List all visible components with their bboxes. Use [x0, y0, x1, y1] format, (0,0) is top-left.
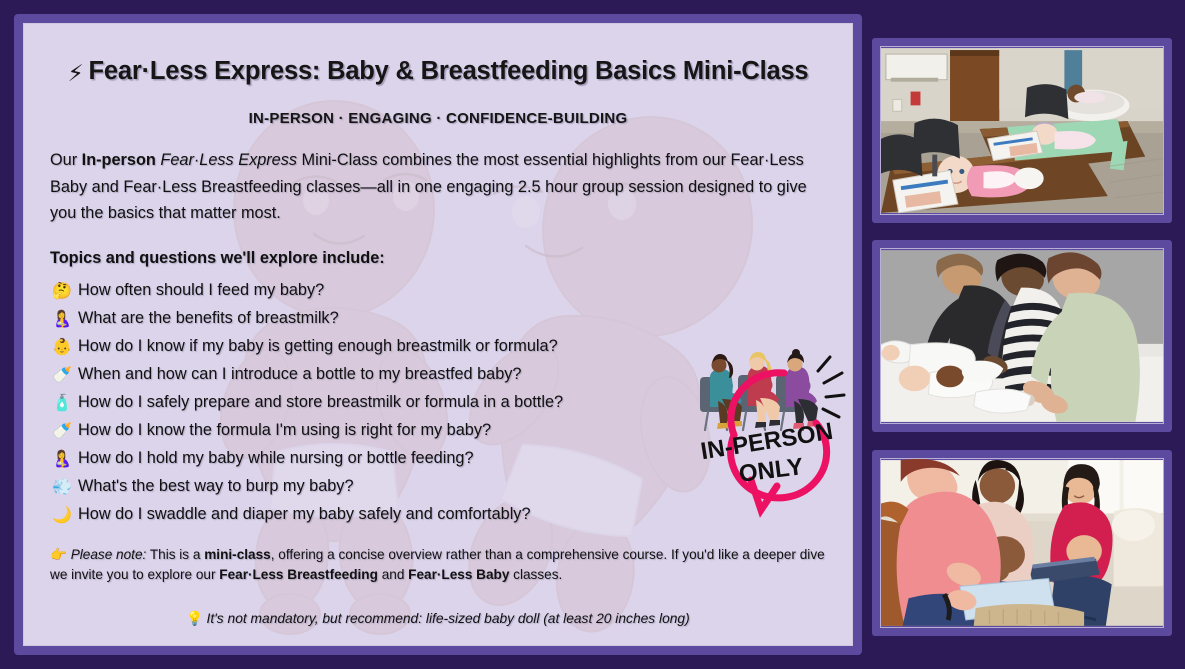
question-text: What's the best way to burp my baby?	[78, 477, 354, 496]
crescent-moon-icon: 🌙	[52, 505, 78, 524]
page-title: ⚡Fear·Less Express: Baby & Breastfeeding…	[46, 57, 830, 87]
page-title-text: Fear·Less Express: Baby & Breastfeeding …	[89, 57, 809, 85]
question-text: How do I know if my baby is getting enou…	[78, 337, 558, 356]
subtitle: IN-PERSON · ENGAGING · CONFIDENCE-BUILDI…	[46, 110, 830, 127]
card-content: ⚡Fear·Less Express: Baby & Breastfeeding…	[24, 24, 852, 645]
photo-column	[872, 18, 1172, 652]
recommendation-text: 💡It's not mandatory, but recommend: life…	[46, 611, 830, 627]
baby-icon: 👶	[52, 337, 78, 356]
in-person-only-badge: IN-PERSON ONLY	[696, 345, 846, 520]
please-note-text: 👉 Please note: This is a mini-class, off…	[50, 545, 826, 586]
poster-root: ⚡Fear·Less Express: Baby & Breastfeeding…	[0, 0, 1185, 669]
question-text: How do I know the formula I'm using is r…	[78, 421, 491, 440]
question-text: What are the benefits of breastmilk?	[78, 309, 339, 328]
main-card-frame: ⚡Fear·Less Express: Baby & Breastfeeding…	[14, 14, 862, 655]
breastfeeding-icon: 🤱	[52, 309, 78, 328]
baby-bottle-icon: 🍼	[52, 365, 78, 384]
list-item: 🤔How often should I feed my baby?	[52, 277, 830, 305]
main-card: ⚡Fear·Less Express: Baby & Breastfeeding…	[23, 23, 853, 646]
intro-paragraph: Our In-person Fear·Less Express Mini-Cla…	[50, 147, 826, 227]
photo-pregnant-group-class	[872, 450, 1172, 636]
question-text: How do I swaddle and diaper my baby safe…	[78, 505, 531, 524]
question-text: How often should I feed my baby?	[78, 281, 324, 300]
thinking-face-icon: 🤔	[52, 281, 78, 300]
pointing-right-icon: 👉	[50, 547, 67, 563]
breastfeeding-icon: 🤱	[52, 449, 78, 468]
question-text: How do I safely prepare and store breast…	[78, 393, 563, 412]
photo-classroom-baby-dolls	[872, 38, 1172, 223]
badge-line-2: ONLY	[737, 453, 804, 488]
question-text: How do I hold my baby while nursing or b…	[78, 449, 474, 468]
baby-bottle-icon: 🍼	[52, 421, 78, 440]
light-bulb-icon: 💡	[186, 611, 203, 627]
dash-puff-icon: 💨	[52, 477, 78, 496]
question-text: When and how can I introduce a bottle to…	[78, 365, 521, 384]
topics-heading: Topics and questions we'll explore inclu…	[50, 249, 826, 268]
high-voltage-icon: ⚡	[68, 60, 84, 86]
lotion-bottle-icon: 🧴	[52, 393, 78, 412]
seated-women-illustration	[700, 349, 844, 430]
list-item: 🤱What are the benefits of breastmilk?	[52, 305, 830, 333]
photo-parents-practicing-swaddling	[872, 240, 1172, 432]
